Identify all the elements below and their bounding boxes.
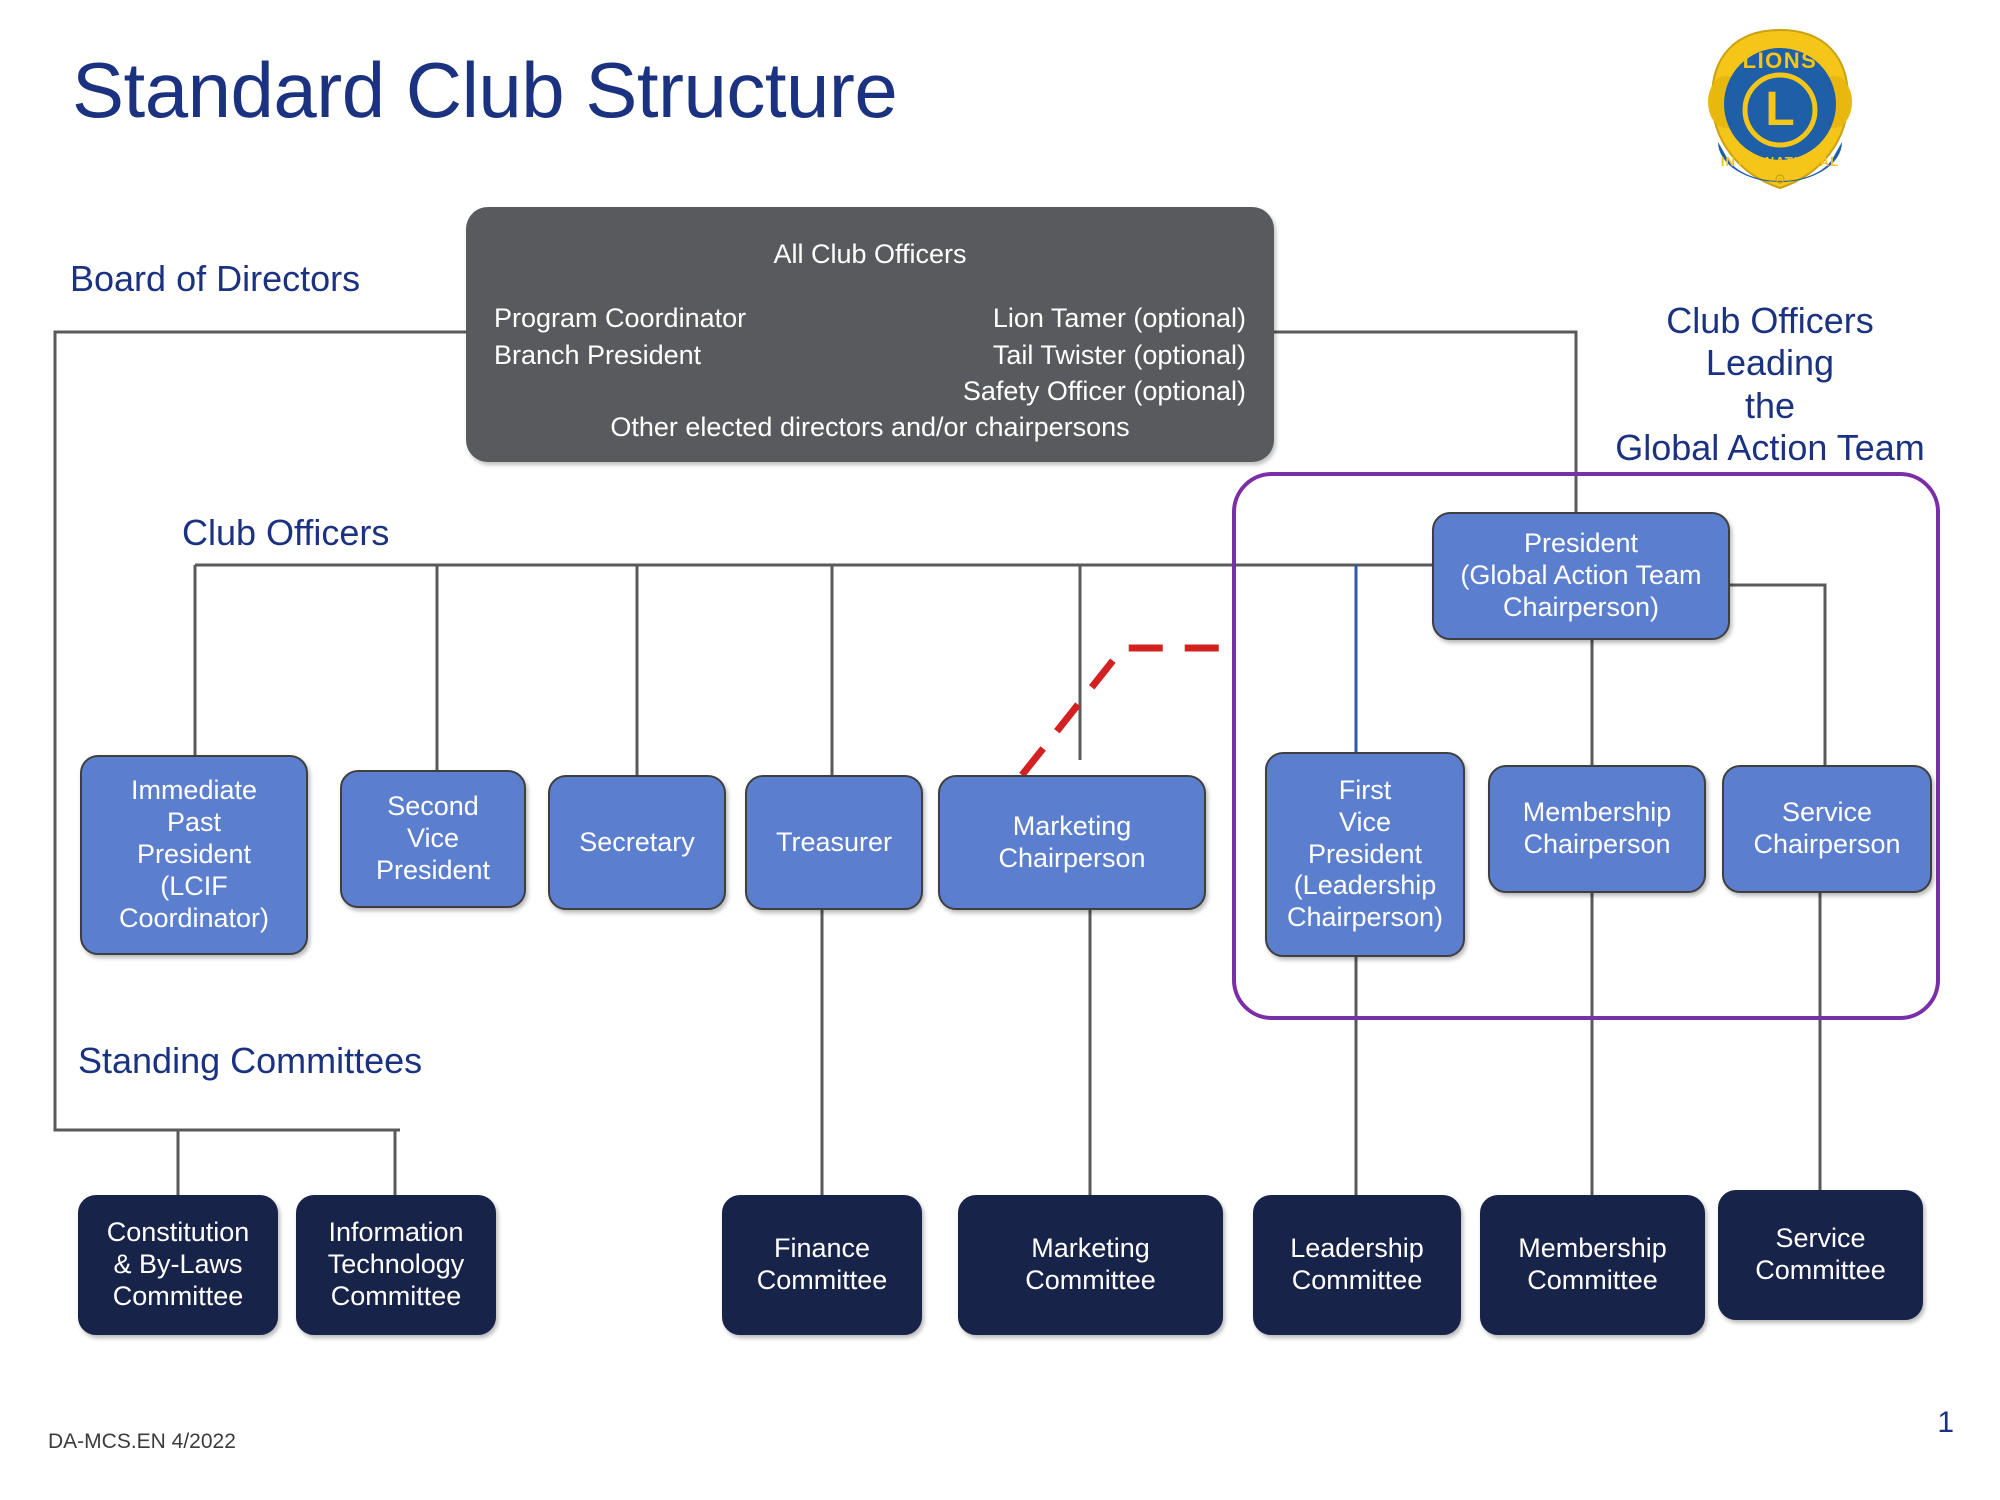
node-membership-chairperson[interactable]: MembershipChairperson bbox=[1488, 765, 1706, 893]
label-board-of-directors: Board of Directors bbox=[70, 258, 360, 300]
gat-label-line-1: Club Officers Leading bbox=[1600, 300, 1940, 385]
lions-logo-icon: LIONS L INTERNATIONAL R bbox=[1700, 24, 1860, 194]
label-club-officers: Club Officers bbox=[182, 512, 389, 554]
footer-document-code: DA-MCS.EN 4/2022 bbox=[48, 1430, 236, 1454]
node-information-technology-committee[interactable]: InformationTechnologyCommittee bbox=[296, 1195, 496, 1335]
node-leadership-committee[interactable]: LeadershipCommittee bbox=[1253, 1195, 1461, 1335]
svg-text:INTERNATIONAL: INTERNATIONAL bbox=[1721, 154, 1839, 169]
node-service-chairperson[interactable]: ServiceChairperson bbox=[1722, 765, 1932, 893]
gat-label-line-2: the bbox=[1600, 385, 1940, 427]
officer-safety-officer: Safety Officer (optional) bbox=[963, 373, 1246, 410]
node-marketing-chairperson[interactable]: MarketingChairperson bbox=[938, 775, 1206, 910]
page-number: 1 bbox=[1937, 1406, 1954, 1440]
page-title: Standard Club Structure bbox=[72, 45, 897, 136]
svg-text:LIONS: LIONS bbox=[1743, 48, 1818, 73]
officer-lion-tamer: Lion Tamer (optional) bbox=[963, 300, 1246, 337]
node-president[interactable]: President(Global Action TeamChairperson) bbox=[1432, 512, 1730, 640]
all-club-officers-right-column: Lion Tamer (optional) Tail Twister (opti… bbox=[963, 300, 1246, 410]
node-secretary[interactable]: Secretary bbox=[548, 775, 726, 910]
officer-program-coordinator: Program Coordinator bbox=[494, 300, 746, 337]
node-service-committee[interactable]: ServiceCommittee bbox=[1718, 1190, 1923, 1320]
slide-canvas: Standard Club Structure LIONS L INTERNAT… bbox=[0, 0, 2000, 1500]
label-global-action-team: Club Officers Leading the Global Action … bbox=[1600, 300, 1940, 470]
node-membership-committee[interactable]: MembershipCommittee bbox=[1480, 1195, 1705, 1335]
node-treasurer[interactable]: Treasurer bbox=[745, 775, 923, 910]
label-standing-committees: Standing Committees bbox=[78, 1040, 422, 1082]
node-constitution-by-laws-committee[interactable]: Constitution& By-LawsCommittee bbox=[78, 1195, 278, 1335]
officer-branch-president: Branch President bbox=[494, 337, 746, 374]
node-second-vice-president[interactable]: SecondVicePresident bbox=[340, 770, 526, 908]
officer-tail-twister: Tail Twister (optional) bbox=[963, 337, 1246, 374]
all-club-officers-box: All Club Officers Program Coordinator Br… bbox=[466, 207, 1274, 462]
all-club-officers-footer: Other elected directors and/or chairpers… bbox=[466, 412, 1274, 443]
lions-international-logo: LIONS L INTERNATIONAL R bbox=[1700, 24, 1860, 194]
node-finance-committee[interactable]: FinanceCommittee bbox=[722, 1195, 922, 1335]
all-club-officers-heading: All Club Officers bbox=[466, 239, 1274, 270]
node-immediate-past-president[interactable]: ImmediatePastPresident(LCIFCoordinator) bbox=[80, 755, 308, 955]
all-club-officers-left-column: Program Coordinator Branch President bbox=[494, 300, 746, 410]
gat-label-line-3: Global Action Team bbox=[1600, 427, 1940, 469]
svg-text:L: L bbox=[1765, 83, 1794, 136]
node-first-vice-president[interactable]: FirstVicePresident(LeadershipChairperson… bbox=[1265, 752, 1465, 957]
node-marketing-committee[interactable]: MarketingCommittee bbox=[958, 1195, 1223, 1335]
svg-text:R: R bbox=[1778, 179, 1782, 185]
